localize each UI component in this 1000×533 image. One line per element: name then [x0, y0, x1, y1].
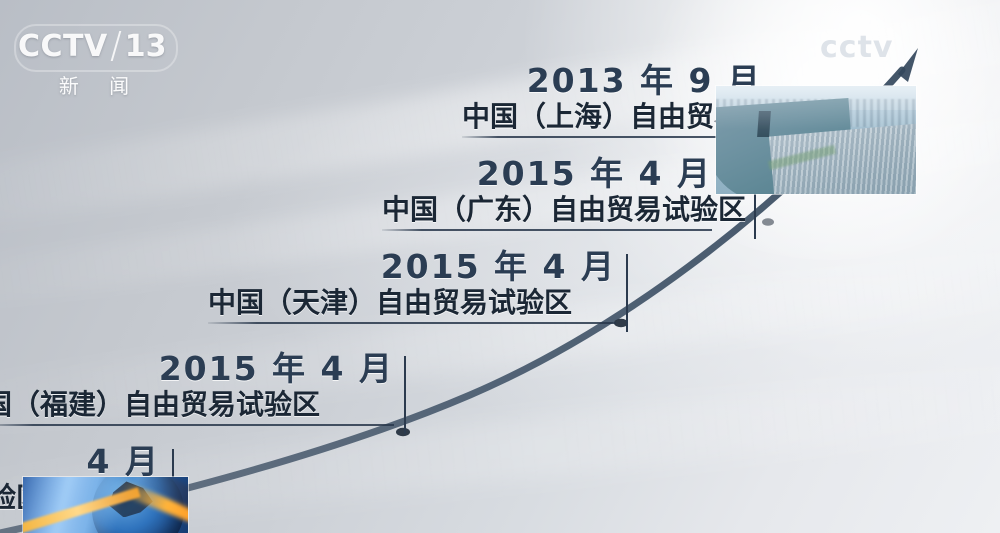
inset-haze-overlay — [716, 86, 916, 194]
milestone-zone: 国（福建）自由贸易试验区 — [0, 388, 394, 421]
milestone-label-tianjin: 2015 年 4 月 中国（天津）自由贸易试验区 — [208, 248, 616, 324]
milestone-date: 2015 年 4 月 — [208, 248, 616, 286]
channel-name: 新 闻 — [18, 70, 170, 99]
milestone-date: 2015 年 4 月 — [0, 350, 394, 388]
milestone-underline — [208, 322, 616, 324]
milestone-underline — [0, 424, 394, 426]
curve-node — [396, 428, 410, 436]
milestone-zone: 中国（广东）自由贸易试验区 — [382, 193, 746, 226]
milestone-zone: 中国（天津）自由贸易试验区 — [208, 286, 616, 319]
milestone-connector-tick — [404, 356, 406, 434]
broadcast-frame: CCTV 13 新 闻 cctv 2013 年 9 月 中国（上海）自由贸易试验… — [0, 0, 1000, 533]
channel-logo: CCTV 13 新 闻 — [18, 26, 178, 92]
milestone-date: 2015 年 4 月 — [382, 155, 712, 193]
logo-capsule-outline — [14, 24, 178, 72]
milestone-underline — [382, 229, 712, 231]
inset-globe-video — [23, 477, 188, 533]
milestone-label-fujian: 2015 年 4 月 国（福建）自由贸易试验区 — [0, 350, 394, 426]
milestone-label-guangdong: 2015 年 4 月 中国（广东）自由贸易试验区 — [382, 155, 746, 231]
milestone-date: 4 月 — [0, 443, 160, 481]
milestone-connector-tick — [626, 254, 628, 332]
curve-node — [762, 218, 774, 226]
inset-aerial-city-video — [716, 86, 916, 194]
